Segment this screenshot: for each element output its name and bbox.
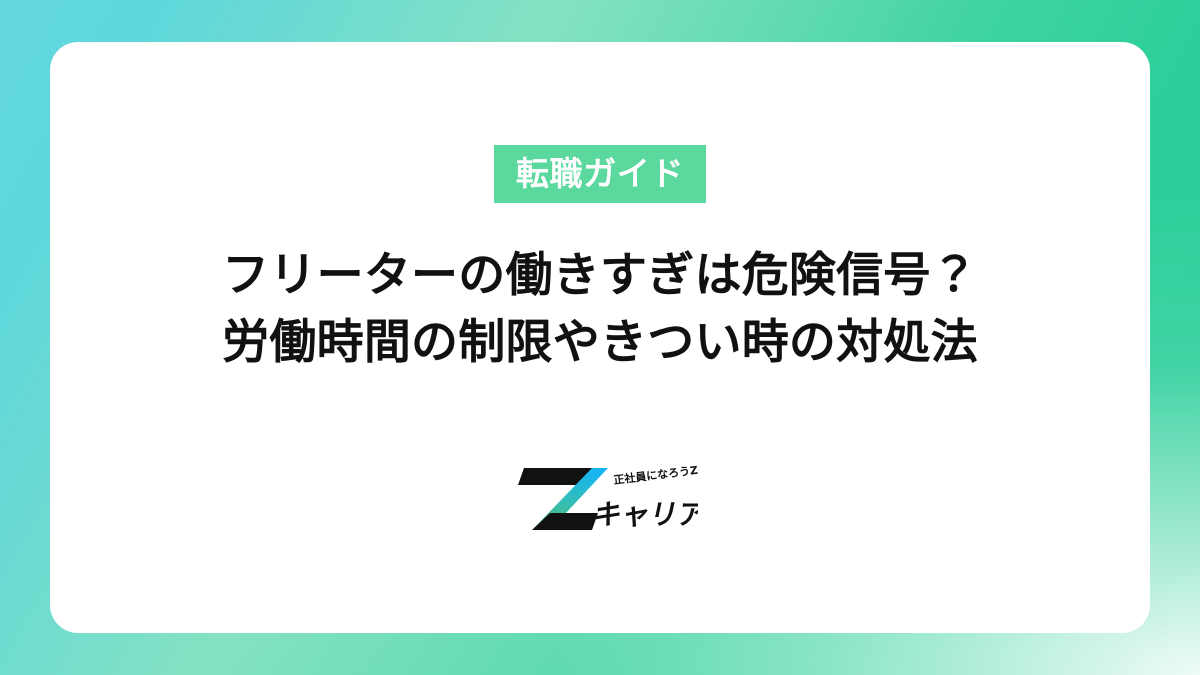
z-bottom-bar [532,513,598,530]
ogp-canvas: 転職ガイド フリーターの働きすぎは危険信号？ 労働時間の制限やきつい時の対処法 [0,0,1200,675]
brand-logo: 正社員になろうZ! キャリア [502,458,698,540]
category-badge: 転職ガイド [494,145,706,203]
page-title: フリーターの働きすぎは危険信号？ 労働時間の制限やきつい時の対処法 [222,243,978,376]
logo-wordmark: キャリア [590,498,698,531]
content-card: 転職ガイド フリーターの働きすぎは危険信号？ 労働時間の制限やきつい時の対処法 [50,42,1150,633]
page-title-line-2: 労働時間の制限やきつい時の対処法 [222,310,978,377]
brand-logo-svg: 正社員になろうZ! キャリア [502,458,698,540]
page-title-line-1: フリーターの働きすぎは危険信号？ [222,243,978,310]
logo-tagline: 正社員になろうZ! [613,462,698,487]
